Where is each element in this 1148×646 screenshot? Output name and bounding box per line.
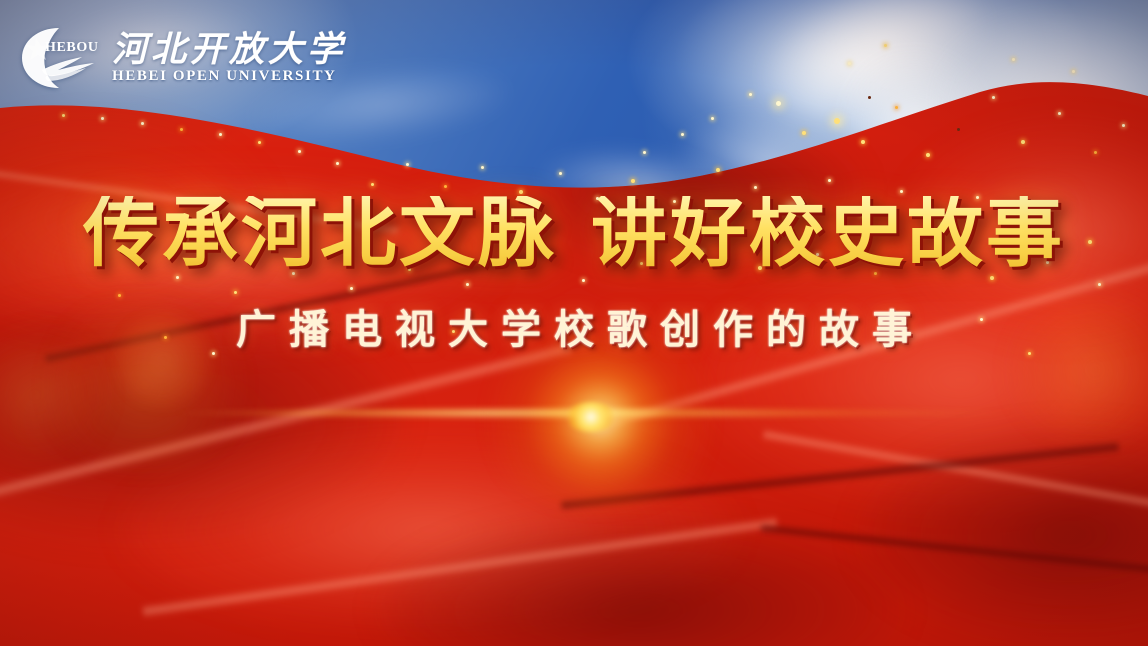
flag-shape bbox=[0, 0, 1148, 646]
red-flag-background bbox=[0, 0, 1148, 646]
title-card-stage: HEBOU 河北开放大学 HEBEI OPEN UNIVERSITY 传承河北文… bbox=[0, 0, 1148, 646]
logo-university-name-cn: 河北开放大学 bbox=[112, 32, 346, 69]
logo-university-name-en: HEBEI OPEN UNIVERSITY bbox=[112, 69, 346, 84]
university-logo: HEBOU 河北开放大学 HEBEI OPEN UNIVERSITY bbox=[12, 24, 346, 92]
crescent-wing-emblem-icon: HEBOU bbox=[12, 24, 104, 92]
flag-silk-fill bbox=[0, 82, 1148, 646]
svg-text:HEBOU: HEBOU bbox=[45, 40, 99, 55]
logo-text-lockup: 河北开放大学 HEBEI OPEN UNIVERSITY bbox=[112, 32, 346, 85]
